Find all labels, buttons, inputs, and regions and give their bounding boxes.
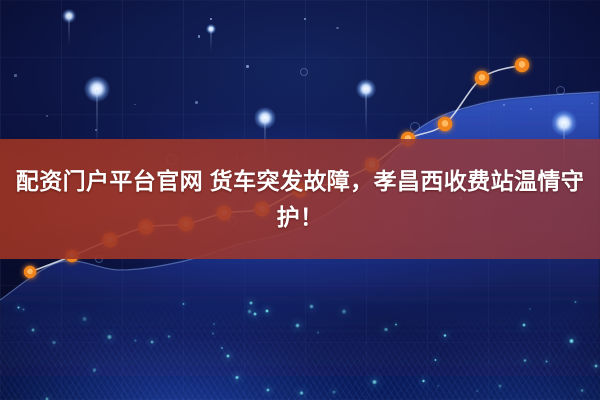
headline-text: 配资门户平台官网 货车突发故障，孝昌西收费站温情守护！ (0, 139, 600, 259)
banner-image: 配资门户平台官网 货车突发故障，孝昌西收费站温情守护！ (0, 0, 600, 400)
